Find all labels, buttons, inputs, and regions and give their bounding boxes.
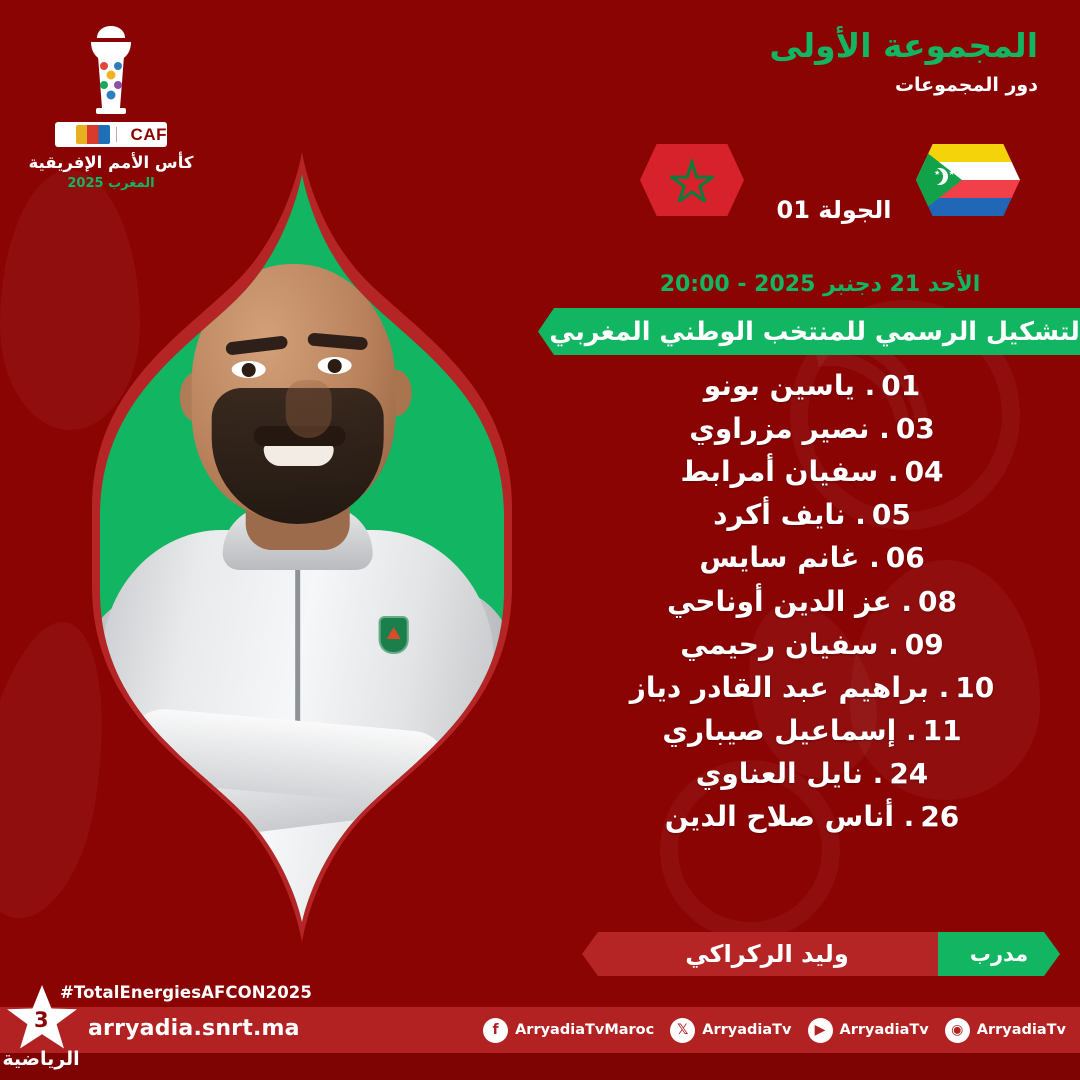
coach-photo bbox=[83, 232, 513, 922]
social-youtube[interactable]: ▶ ArryadiaTv bbox=[808, 1018, 929, 1043]
info-column: المجموعة الأولى دور المجموعات ★★★★ الجول… bbox=[560, 0, 1080, 1080]
portrait-inner-panel bbox=[66, 174, 538, 922]
player-number: 03 bbox=[896, 412, 935, 445]
trophy-icon bbox=[68, 22, 154, 118]
website-url[interactable]: arryadia.snrt.ma bbox=[88, 1016, 300, 1041]
player-row: 09. سفيان رحيمي bbox=[568, 623, 1056, 666]
player-number: 11 bbox=[923, 714, 962, 747]
player-name: غانم سايس bbox=[699, 541, 859, 574]
arryadia-logo: 3 الرياضية bbox=[2, 982, 80, 1078]
player-name: أناس صلاح الدين bbox=[665, 800, 894, 833]
comoros-flag-icon: ★★★★ bbox=[916, 144, 1020, 216]
caf-wordmark: CAF bbox=[55, 122, 167, 147]
instagram-icon[interactable]: ◉ bbox=[945, 1018, 970, 1043]
tournament-host-year: المغرب 2025 bbox=[26, 176, 196, 191]
match-datetime: الأحد 21 دجنبر 2025 - 20:00 bbox=[560, 272, 1080, 297]
coach-banner: مدرب وليد الركراكي bbox=[582, 932, 1060, 976]
facebook-icon[interactable]: f bbox=[483, 1018, 508, 1043]
player-row: 10. براهيم عبد القادر دياز bbox=[568, 666, 1056, 709]
footer-bar: #TotalEnergiesAFCON2025 arryadia.snrt.ma… bbox=[0, 980, 1080, 1080]
lineup-banner: التشكيل الرسمي للمنتخب الوطني المغربي bbox=[538, 308, 1080, 355]
player-name: سفيان أمرابط bbox=[680, 455, 878, 488]
player-row: 26. أناس صلاح الدين bbox=[568, 796, 1056, 839]
channel-number: 3 bbox=[34, 1008, 49, 1032]
lineup-banner-title: التشكيل الرسمي للمنتخب الوطني المغربي bbox=[549, 317, 1080, 347]
coach-pupil-left bbox=[242, 363, 256, 377]
player-number: 08 bbox=[918, 585, 957, 618]
coach-team-crest bbox=[379, 616, 409, 654]
caf-wordmark-text: CAF bbox=[123, 125, 167, 145]
x-handle[interactable]: ArryadiaTv bbox=[702, 1022, 791, 1038]
social-instagram[interactable]: ◉ ArryadiaTv bbox=[945, 1018, 1066, 1043]
campaign-hashtag: #TotalEnergiesAFCON2025 bbox=[60, 983, 312, 1002]
footer-band-bottom bbox=[0, 1053, 1080, 1080]
player-row: 11. إسماعيل صيباري bbox=[568, 710, 1056, 753]
social-facebook[interactable]: f ArryadiaTvMaroc bbox=[483, 1018, 654, 1043]
player-row: 05. نايف أكرد bbox=[568, 494, 1056, 537]
player-row: 08. عز الدين أوناحي bbox=[568, 580, 1056, 623]
morocco-flag-icon bbox=[640, 144, 744, 216]
coach-pupil-right bbox=[328, 359, 342, 373]
youtube-icon[interactable]: ▶ bbox=[808, 1018, 833, 1043]
coach-nose bbox=[286, 380, 332, 438]
player-number: 05 bbox=[872, 498, 911, 531]
tournament-name: كأس الأمم الإفريقية bbox=[26, 154, 196, 173]
player-row: 03. نصير مزراوي bbox=[568, 407, 1056, 450]
player-name: نايف أكرد bbox=[713, 498, 845, 531]
player-number: 09 bbox=[905, 628, 944, 661]
player-name: إسماعيل صيباري bbox=[662, 714, 896, 747]
player-number: 01 bbox=[881, 369, 920, 402]
tournament-logo: CAF كأس الأمم الإفريقية المغرب 2025 bbox=[26, 22, 196, 191]
group-title: المجموعة الأولى bbox=[769, 26, 1038, 65]
channel-name-ar: الرياضية bbox=[2, 1048, 80, 1070]
caf-host-mark-icon bbox=[76, 125, 110, 144]
instagram-handle[interactable]: ArryadiaTv bbox=[977, 1022, 1066, 1038]
player-row: 01. ياسين بونو bbox=[568, 364, 1056, 407]
coach-role-label: مدرب bbox=[938, 932, 1060, 976]
stage-label: دور المجموعات bbox=[895, 74, 1038, 96]
coach-portrait-frame bbox=[52, 152, 552, 942]
player-name: ياسين بونو bbox=[704, 369, 855, 402]
x-twitter-icon[interactable]: 𝕏 bbox=[670, 1018, 695, 1043]
player-name: براهيم عبد القادر دياز bbox=[630, 671, 929, 704]
caf-wordmark-divider bbox=[116, 127, 117, 142]
player-name: سفيان رحيمي bbox=[680, 628, 878, 661]
youtube-handle[interactable]: ArryadiaTv bbox=[840, 1022, 929, 1038]
facebook-handle[interactable]: ArryadiaTvMaroc bbox=[515, 1022, 654, 1038]
player-row: 24. نايل العناوي bbox=[568, 753, 1056, 796]
coach-mouth bbox=[264, 444, 334, 466]
player-row: 06. غانم سايس bbox=[568, 537, 1056, 580]
player-number: 04 bbox=[905, 455, 944, 488]
player-number: 06 bbox=[886, 541, 925, 574]
poster-canvas: CAF كأس الأمم الإفريقية المغرب 2025 bbox=[0, 0, 1080, 1080]
player-number: 24 bbox=[889, 757, 928, 790]
social-x[interactable]: 𝕏 ArryadiaTv bbox=[670, 1018, 791, 1043]
player-list: 01. ياسين بونو03. نصير مزراوي04. سفيان أ… bbox=[568, 364, 1056, 839]
player-name: عز الدين أوناحي bbox=[667, 585, 892, 618]
round-label: الجولة 01 bbox=[764, 196, 904, 224]
player-name: نصير مزراوي bbox=[689, 412, 869, 445]
morocco-pentagram-icon bbox=[670, 158, 714, 202]
player-row: 04. سفيان أمرابط bbox=[568, 450, 1056, 493]
player-name: نايل العناوي bbox=[696, 757, 863, 790]
comoros-stars-icon: ★★★★ bbox=[934, 170, 963, 177]
coach-name-label: وليد الركراكي bbox=[582, 932, 952, 976]
player-number: 10 bbox=[955, 671, 994, 704]
player-number: 26 bbox=[920, 800, 959, 833]
social-links: f ArryadiaTvMaroc 𝕏 ArryadiaTv ▶ Arryadi… bbox=[483, 1008, 1066, 1052]
